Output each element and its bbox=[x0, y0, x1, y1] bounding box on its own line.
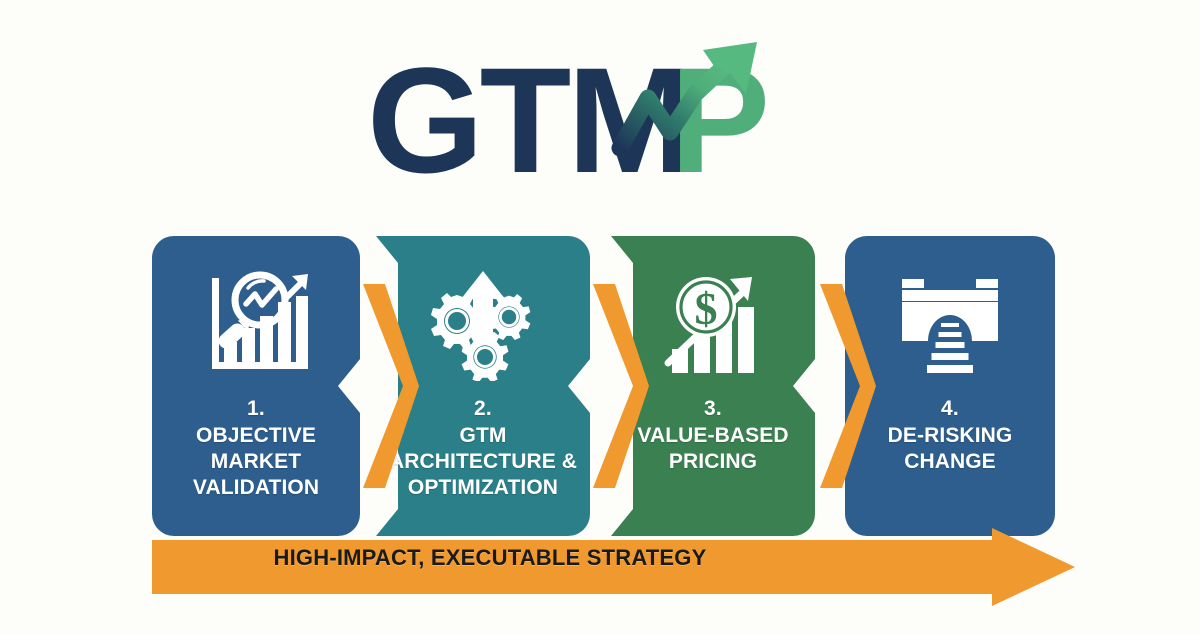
connector-chevron-2 bbox=[585, 236, 650, 536]
dollar-coin-growth-icon: $ bbox=[653, 264, 773, 386]
step-card-1-title: OBJECTIVE MARKET VALIDATION bbox=[152, 423, 360, 501]
connector-chevron-3 bbox=[812, 236, 877, 536]
step-card-1-number: 1. bbox=[247, 396, 265, 422]
brand-logo: GTM P bbox=[0, 28, 1200, 203]
infographic-canvas: GTM P bbox=[0, 0, 1200, 634]
svg-text:$: $ bbox=[695, 283, 718, 334]
strategy-banner-label: HIGH-IMPACT, EXECUTABLE STRATEGY bbox=[0, 540, 980, 575]
step-card-1[interactable]: 1. OBJECTIVE MARKET VALIDATION bbox=[152, 236, 360, 536]
step-card-2-number: 2. bbox=[474, 396, 492, 422]
connector-chevron-1 bbox=[355, 236, 420, 536]
step-card-3-number: 3. bbox=[704, 396, 722, 422]
magnifier-bar-chart-icon bbox=[196, 264, 316, 386]
gtmp-logo-svg: GTM P bbox=[365, 36, 835, 196]
bridge-track-icon bbox=[890, 264, 1010, 386]
gears-arrow-icon bbox=[423, 264, 543, 386]
step-card-4-number: 4. bbox=[941, 396, 959, 422]
